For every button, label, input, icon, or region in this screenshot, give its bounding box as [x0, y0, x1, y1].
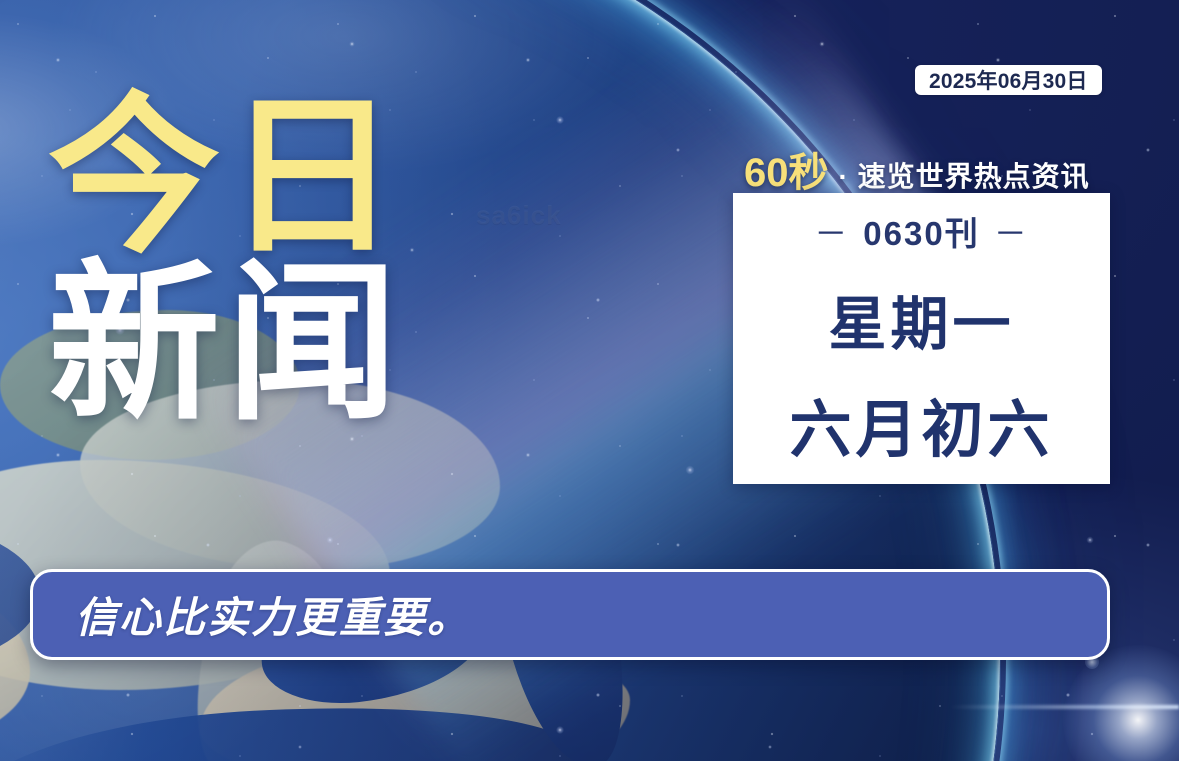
tagline-text: · 速览世界热点资讯 [839, 155, 1090, 195]
weekday-label: 星期一 [828, 277, 1014, 361]
tagline-seconds: 60秒 [744, 140, 829, 198]
quote-bar: 信心比实力更重要。 [30, 569, 1110, 660]
issue-number-row: － 0630刊 － [814, 207, 1028, 255]
quote-text: 信心比实力更重要。 [75, 584, 471, 645]
page-title-line-1: 今日 [48, 96, 478, 259]
date-badge-label: 2025年06月30日 [929, 65, 1088, 95]
issue-dash-left: － [814, 207, 849, 255]
tagline: 60秒 · 速览世界热点资讯 [744, 140, 1090, 198]
date-badge: 2025年06月30日 [915, 65, 1102, 95]
lunar-date-label: 六月初六 [789, 379, 1053, 469]
issue-number: 0630刊 [863, 207, 979, 255]
info-card: － 0630刊 － 星期一 六月初六 [733, 193, 1110, 484]
page-title: 今日 新闻 [48, 96, 478, 427]
issue-dash-right: － [994, 207, 1029, 255]
page-title-line-2: 新闻 [48, 263, 478, 426]
news-card-canvas: sa6ick 2025年06月30日 今日 新闻 60秒 · 速览世界热点资讯 … [0, 0, 1179, 761]
